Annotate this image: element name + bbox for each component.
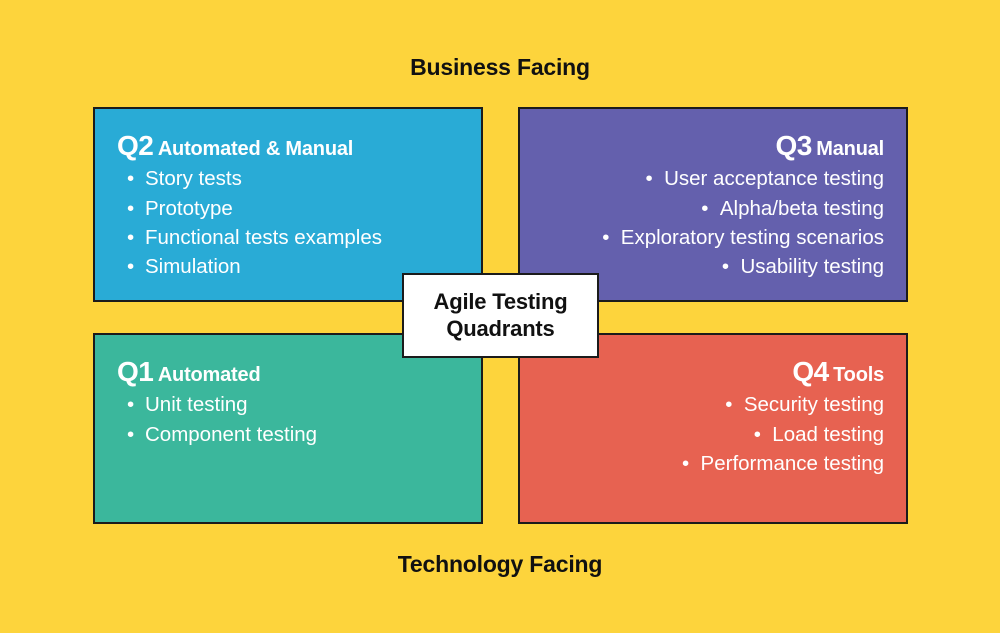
list-item: Component testing	[117, 420, 463, 449]
quadrant-q2-code: Q2	[117, 130, 153, 161]
quadrant-q4-list: Security testing Load testing Performanc…	[538, 390, 884, 477]
list-item: User acceptance testing	[538, 164, 884, 193]
quadrant-q3-heading: Q3 Manual	[538, 131, 884, 160]
quadrant-q1-kind: Automated	[158, 364, 261, 386]
axis-label-business-facing: Business Facing	[0, 54, 1000, 81]
quadrant-q3-code: Q3	[775, 130, 811, 161]
list-item: Exploratory testing scenarios	[538, 223, 884, 252]
quadrant-q4: Q4 Tools Security testing Load testing P…	[518, 333, 908, 524]
quadrant-q3-kind: Manual	[816, 138, 884, 160]
axis-label-technology-facing: Technology Facing	[0, 551, 1000, 578]
center-title-card: Agile Testing Quadrants	[402, 273, 599, 358]
list-item: Story tests	[117, 164, 463, 193]
quadrant-q2-list: Story tests Prototype Functional tests e…	[117, 164, 463, 280]
page-title: Agile Testing Quadrants	[434, 289, 568, 342]
list-item: Functional tests examples	[117, 223, 463, 252]
list-item: Prototype	[117, 194, 463, 223]
quadrant-q1-list: Unit testing Component testing	[117, 390, 463, 448]
list-item: Security testing	[538, 390, 884, 419]
quadrant-q4-heading: Q4 Tools	[538, 357, 884, 386]
quadrant-q2-kind: Automated & Manual	[158, 138, 353, 160]
list-item: Alpha/beta testing	[538, 194, 884, 223]
quadrant-q2-heading: Q2 Automated & Manual	[117, 131, 463, 160]
quadrant-q2-content: Q2 Automated & Manual Story tests Protot…	[95, 109, 481, 281]
quadrant-q4-code: Q4	[792, 356, 828, 387]
quadrant-q1-code: Q1	[117, 356, 153, 387]
quadrant-q1-heading: Q1 Automated	[117, 357, 463, 386]
list-item: Performance testing	[538, 449, 884, 478]
agile-testing-quadrants-diagram: Business Facing Supporting the team Crit…	[0, 0, 1000, 633]
quadrant-q3-content: Q3 Manual User acceptance testing Alpha/…	[520, 109, 906, 281]
quadrant-q3-list: User acceptance testing Alpha/beta testi…	[538, 164, 884, 280]
quadrant-q4-kind: Tools	[833, 364, 884, 386]
list-item: Load testing	[538, 420, 884, 449]
list-item: Unit testing	[117, 390, 463, 419]
quadrant-q1: Q1 Automated Unit testing Component test…	[93, 333, 483, 524]
